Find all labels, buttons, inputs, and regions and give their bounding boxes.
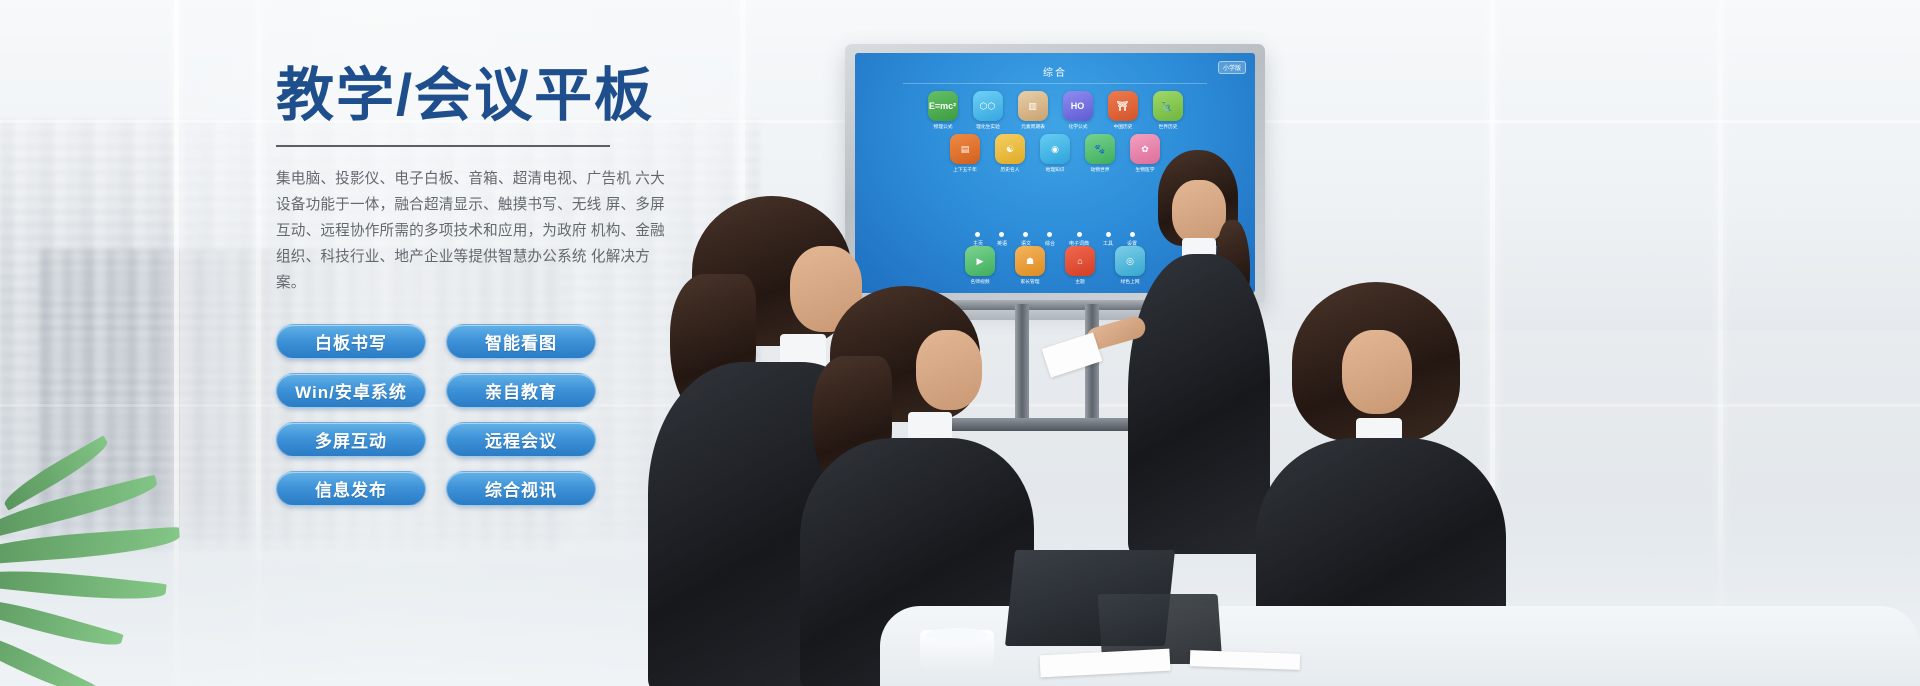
screen-divider xyxy=(903,83,1207,84)
app-tile[interactable]: ▶名师视频 xyxy=(963,246,997,285)
hero-description: 集电脑、投影仪、电子白板、音箱、超清电视、广告机 六大设备功能于一体，融合超清显… xyxy=(276,166,676,296)
app-label: 历史名人 xyxy=(994,166,1026,173)
feature-button[interactable]: 多屏互动 xyxy=(276,422,426,457)
app-tile[interactable]: ☯历史名人 xyxy=(993,134,1027,173)
app-icon: ☗ xyxy=(1015,246,1045,276)
app-tile[interactable]: ⌂主题 xyxy=(1063,246,1097,285)
screen-version-badge: 小学版 xyxy=(1218,61,1246,74)
app-icon: 🗽 xyxy=(1153,91,1183,121)
app-tile[interactable]: ▥元素周期表 xyxy=(1016,91,1050,130)
subject-dot-icon xyxy=(999,232,1004,237)
app-label: 世界历史 xyxy=(1151,123,1183,130)
subject-nav-item[interactable]: 英语 xyxy=(997,232,1007,247)
feature-button-grid: 白板书写智能看图Win/安卓系统亲自教育多屏互动远程会议信息发布综合视讯 xyxy=(276,324,696,506)
feature-button[interactable]: 信息发布 xyxy=(276,471,426,506)
app-tile[interactable]: ☗家长管理 xyxy=(1013,246,1047,285)
app-label: 化学公式 xyxy=(1061,123,1093,130)
app-icon: ⬡⬡ xyxy=(973,91,1003,121)
app-icon: 🐾 xyxy=(1085,134,1115,164)
app-icon: ⌂ xyxy=(1065,246,1095,276)
app-tile[interactable]: 🐾动物世界 xyxy=(1083,134,1117,173)
app-label: 中国历史 xyxy=(1106,123,1138,130)
subject-nav-item[interactable]: 主页 xyxy=(973,232,983,247)
app-label: 名师视频 xyxy=(964,278,996,285)
app-tile[interactable]: ⬡⬡理化生实验 xyxy=(971,91,1005,130)
subject-nav-item[interactable]: 语文 xyxy=(1021,232,1031,247)
title-divider xyxy=(276,145,610,147)
app-tile[interactable]: ◉地理知识 xyxy=(1038,134,1072,173)
app-label: 地理知识 xyxy=(1039,166,1071,173)
subject-nav-item[interactable]: 电子词典 xyxy=(1069,232,1089,247)
panel-stand-column xyxy=(1085,304,1099,429)
app-grid-row: E=mc²物理公式⬡⬡理化生实验▥元素周期表HO化学公式⛩中国历史🗽世界历史 xyxy=(926,91,1185,130)
hero-content: 教学/会议平板 集电脑、投影仪、电子白板、音箱、超清电视、广告机 六大设备功能于… xyxy=(276,66,696,506)
feature-button[interactable]: 白板书写 xyxy=(276,324,426,359)
app-label: 理化生实验 xyxy=(971,123,1003,130)
plant-decoration xyxy=(0,456,270,686)
subject-nav-item[interactable]: 工具 xyxy=(1103,232,1113,247)
subject-dot-icon xyxy=(975,232,980,237)
app-label: 动物世界 xyxy=(1084,166,1116,173)
app-label: 主题 xyxy=(1064,278,1096,285)
hero-banner: 综合 小学版 E=mc²物理公式⬡⬡理化生实验▥元素周期表HO化学公式⛩中国历史… xyxy=(0,0,1920,686)
subject-nav-item[interactable]: 综合 xyxy=(1045,232,1055,247)
app-icon: HO xyxy=(1063,91,1093,121)
app-icon: ▶ xyxy=(965,246,995,276)
page-title: 教学/会议平板 xyxy=(276,66,696,127)
app-tile[interactable]: E=mc²物理公式 xyxy=(926,91,960,130)
feature-button[interactable]: 综合视讯 xyxy=(446,471,596,506)
subject-dot-icon xyxy=(1106,232,1111,237)
app-label: 物理公式 xyxy=(926,123,958,130)
app-icon: E=mc² xyxy=(928,91,958,121)
app-label: 元素周期表 xyxy=(1016,123,1048,130)
screen-title: 综合 xyxy=(855,64,1255,79)
app-icon: ◉ xyxy=(1040,134,1070,164)
app-tile[interactable]: ⛩中国历史 xyxy=(1106,91,1140,130)
feature-button[interactable]: 智能看图 xyxy=(446,324,596,359)
subject-dot-icon xyxy=(1047,232,1052,237)
app-tile[interactable]: 🗽世界历史 xyxy=(1151,91,1185,130)
feature-button[interactable]: Win/安卓系统 xyxy=(276,373,426,408)
app-icon: ⛩ xyxy=(1108,91,1138,121)
feature-button[interactable]: 亲自教育 xyxy=(446,373,596,408)
app-icon: ☯ xyxy=(995,134,1025,164)
app-icon: ▥ xyxy=(1018,91,1048,121)
app-tile[interactable]: HO化学公式 xyxy=(1061,91,1095,130)
feature-button[interactable]: 远程会议 xyxy=(446,422,596,457)
subject-dot-icon xyxy=(1023,232,1028,237)
subject-dot-icon xyxy=(1077,232,1082,237)
app-tile[interactable]: ▤上下五千年 xyxy=(948,134,982,173)
app-icon: ▤ xyxy=(950,134,980,164)
app-label: 家长管理 xyxy=(1014,278,1046,285)
app-label: 上下五千年 xyxy=(949,166,981,173)
coffee-cup-rim xyxy=(926,628,988,642)
